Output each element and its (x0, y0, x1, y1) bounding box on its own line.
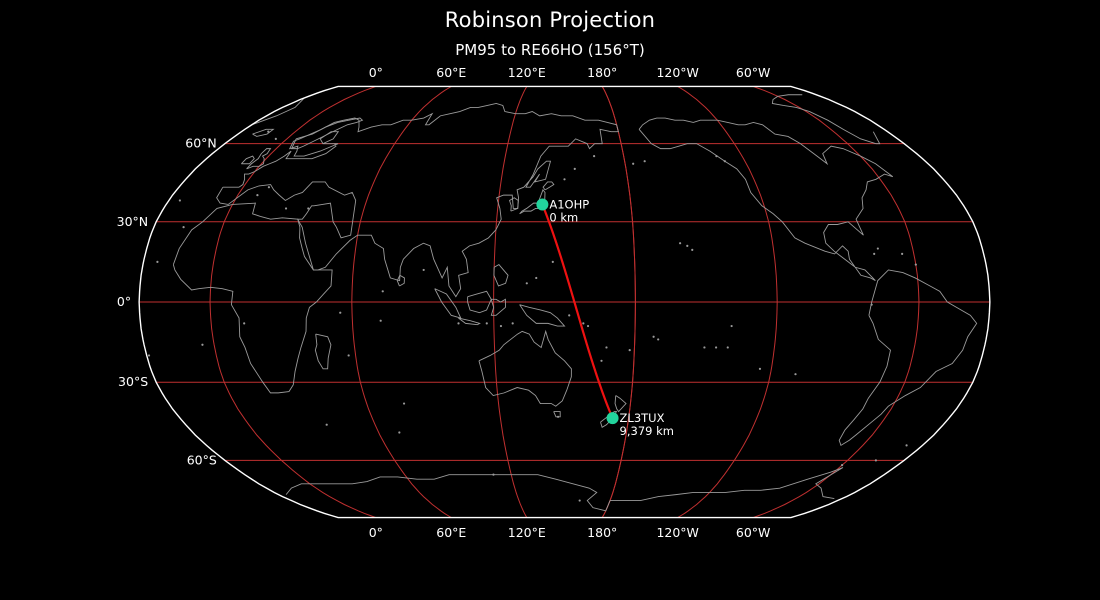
lat-tick-left-4: 60°S (187, 452, 217, 467)
island-speckle (339, 312, 341, 314)
island-speckle (703, 346, 705, 348)
island-speckle (759, 368, 761, 370)
island-speckle (905, 444, 907, 446)
lon-tick-top-1: 60°E (436, 65, 466, 80)
lon-tick-bottom-5: 60°W (736, 525, 771, 540)
island-speckle (492, 474, 494, 476)
coastline (615, 396, 626, 412)
island-speckle (731, 325, 733, 327)
island-speckle (582, 322, 584, 324)
coastline (554, 412, 561, 417)
lon-tick-top-5: 60°W (736, 65, 771, 80)
island-speckle (794, 373, 796, 375)
island-speckle (873, 253, 875, 255)
island-speckle (552, 261, 554, 263)
coastline (543, 182, 554, 190)
island-speckle (486, 322, 488, 324)
island-speckle (326, 424, 328, 426)
island-speckle (600, 360, 602, 362)
island-speckle (841, 464, 843, 466)
island-speckle (715, 346, 717, 348)
island-speckle (579, 499, 581, 501)
island-speckle (593, 155, 595, 157)
island-speckle (457, 322, 459, 324)
coastline (639, 118, 893, 281)
island-speckle (201, 344, 203, 346)
island-speckle (403, 402, 405, 404)
island-speckle (500, 325, 502, 327)
island-speckle (691, 249, 693, 251)
robinson-map-canvas[interactable]: A1OHP0 kmZL3TUX9,379 km 0°0°60°E60°E120°… (0, 0, 1100, 600)
lat-tick-left-3: 30°S (118, 374, 148, 389)
island-speckle (557, 416, 559, 418)
island-speckle (307, 207, 309, 209)
lon-tick-top-3: 180° (587, 65, 617, 80)
island-speckle (605, 346, 607, 348)
island-speckle (156, 261, 158, 263)
island-speckle (285, 207, 287, 209)
island-speckle (901, 253, 903, 255)
island-speckle (715, 155, 717, 157)
island-speckle (915, 263, 917, 265)
island-speckle (512, 322, 514, 324)
island-speckle (243, 322, 245, 324)
station-callsign-label-zl3tux: ZL3TUX (620, 411, 665, 425)
island-speckle (568, 314, 570, 316)
island-speckle (877, 247, 879, 249)
island-speckle (423, 269, 425, 271)
station-marker-a1ohp[interactable] (536, 198, 548, 210)
island-speckle (563, 178, 565, 180)
coastline (252, 98, 305, 125)
island-speckle (574, 168, 576, 170)
lat-tick-left-0: 60°N (185, 136, 217, 151)
coastline (479, 331, 571, 406)
lat-tick-left-2: 0° (117, 294, 131, 309)
island-speckle (727, 346, 729, 348)
island-speckle (182, 226, 184, 228)
lon-tick-bottom-2: 120°E (508, 525, 546, 540)
island-speckle (686, 245, 688, 247)
island-speckle (179, 199, 181, 201)
island-speckle (148, 354, 150, 356)
great-circle-line (542, 204, 612, 418)
graticule-group (139, 86, 990, 517)
island-speckle (275, 138, 277, 140)
island-speckle (644, 160, 646, 162)
lon-tick-bottom-1: 60°E (436, 525, 466, 540)
island-speckle (526, 282, 528, 284)
island-speckle (380, 320, 382, 322)
coastline (315, 334, 331, 369)
island-speckle (724, 160, 726, 162)
coastline (520, 305, 565, 326)
coastline-group (148, 95, 977, 511)
island-speckle (398, 431, 400, 433)
island-speckle (535, 277, 537, 279)
station-marker-zl3tux[interactable] (607, 412, 619, 424)
great-circle-path (542, 204, 612, 418)
island-speckle (267, 131, 269, 133)
lon-tick-top-4: 120°W (656, 65, 698, 80)
coastline (247, 149, 271, 169)
lat-tick-left-1: 30°N (117, 214, 149, 229)
lon-tick-bottom-4: 120°W (656, 525, 698, 540)
island-speckle (679, 242, 681, 244)
map-figure: Robinson Projection PM95 to RE66HO (156°… (0, 0, 1100, 600)
coastline (458, 318, 479, 325)
island-speckle (657, 338, 659, 340)
lon-tick-bottom-0: 0° (369, 525, 383, 540)
lon-tick-top-2: 120°E (508, 65, 546, 80)
coastline (873, 132, 879, 144)
coastline (286, 475, 610, 511)
lon-tick-top-0: 0° (369, 65, 383, 80)
coastline (510, 198, 519, 211)
island-speckle (268, 186, 270, 188)
island-speckle (653, 336, 655, 338)
island-speckle (871, 304, 873, 306)
lon-tick-bottom-3: 180° (587, 525, 617, 540)
coastline (494, 265, 508, 286)
island-speckle (587, 325, 589, 327)
island-speckle (632, 163, 634, 165)
island-speckle (629, 349, 631, 351)
island-speckle (875, 459, 877, 461)
island-speckle (382, 290, 384, 292)
island-speckle (256, 194, 258, 196)
station-distance-label-zl3tux: 9,379 km (620, 424, 674, 438)
station-callsign-label-a1ohp: A1OHP (549, 197, 589, 211)
island-speckle (348, 354, 350, 356)
coastline (253, 129, 274, 136)
coastline (435, 289, 461, 318)
coastline (173, 203, 332, 393)
coastline (839, 270, 976, 445)
station-distance-label-a1ohp: 0 km (549, 210, 578, 224)
